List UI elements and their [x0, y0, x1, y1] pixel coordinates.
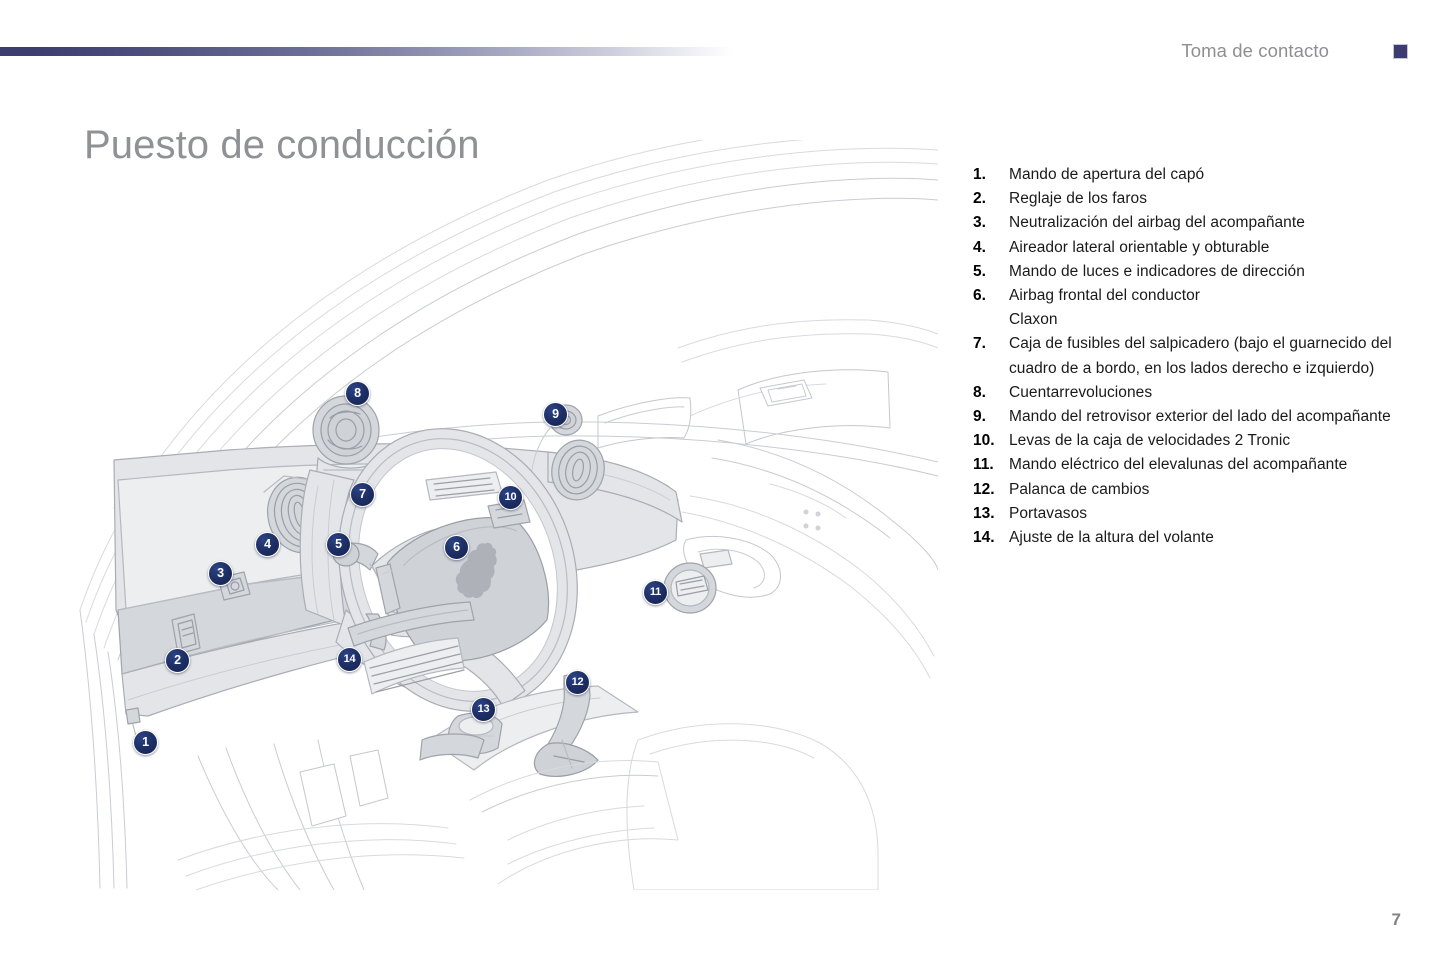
legend-number: 8.: [973, 381, 1009, 405]
callout-1-hood-release[interactable]: 1: [133, 730, 158, 755]
legend-item-9: 9. Mando del retrovisor exterior del lad…: [973, 405, 1403, 429]
legend-number: 5.: [973, 260, 1009, 284]
legend-number: 6.: [973, 284, 1009, 308]
callout-14-wheel-height[interactable]: 14: [337, 647, 362, 672]
callout-8-tachometer[interactable]: 8: [345, 381, 370, 406]
legend-number: 10.: [973, 429, 1009, 453]
legend-number: 9.: [973, 405, 1009, 429]
legend-label: Portavasos: [1009, 502, 1403, 526]
legend-item-7: 7. Caja de fusibles del salpicadero (baj…: [973, 332, 1403, 380]
callout-3-passenger-airbag[interactable]: 3: [208, 561, 233, 586]
legend-item-6: 6. Airbag frontal del conductor Claxon: [973, 284, 1403, 332]
legend-label: Palanca de cambios: [1009, 478, 1403, 502]
legend-number: 7.: [973, 332, 1009, 356]
callout-11-window-switch[interactable]: 11: [643, 580, 668, 605]
legend-number: 13.: [973, 502, 1009, 526]
legend-label: Levas de la caja de velocidades 2 Tronic: [1009, 429, 1403, 453]
legend-label: Mando de apertura del capó: [1009, 163, 1403, 187]
legend-item-13: 13. Portavasos: [973, 502, 1403, 526]
legend-number: 11.: [973, 453, 1009, 477]
callout-13-cup-holder[interactable]: 13: [471, 697, 496, 722]
manual-page: Toma de contacto Puesto de conducción .l…: [0, 0, 1445, 964]
legend-item-5: 5. Mando de luces e indicadores de direc…: [973, 260, 1403, 284]
legend-number: 14.: [973, 526, 1009, 550]
legend-item-4: 4. Aireador lateral orientable y obturab…: [973, 236, 1403, 260]
legend-item-12: 12. Palanca de cambios: [973, 478, 1403, 502]
legend-number: 1.: [973, 163, 1009, 187]
legend-list: 1. Mando de apertura del capó 2. Reglaje…: [933, 163, 1403, 550]
legend-label: Ajuste de la altura del volante: [1009, 526, 1403, 550]
legend-item-1: 1. Mando de apertura del capó: [973, 163, 1403, 187]
legend-label-sub: Claxon: [1009, 308, 1403, 332]
legend-number: 2.: [973, 187, 1009, 211]
legend-label: Mando de luces e indicadores de direcció…: [1009, 260, 1403, 284]
cockpit-illustration: .ln { fill:none; stroke:#b9bcc2; stroke-…: [78, 140, 938, 890]
legend-item-10: 10. Levas de la caja de velocidades 2 Tr…: [973, 429, 1403, 453]
legend-label-main: Airbag frontal del conductor: [1009, 287, 1200, 304]
legend-label: Mando eléctrico del elevalunas del acomp…: [1009, 453, 1403, 477]
legend-label: Mando del retrovisor exterior del lado d…: [1009, 405, 1403, 429]
legend-label: Caja de fusibles del salpicadero (bajo e…: [1009, 332, 1403, 380]
legend-number: 3.: [973, 211, 1009, 235]
chapter-title: Toma de contacto: [1181, 40, 1329, 62]
legend-number: 12.: [973, 478, 1009, 502]
callout-2-headlight-adjust[interactable]: 2: [165, 648, 190, 673]
callout-7-fuse-box[interactable]: 7: [350, 482, 375, 507]
legend-label: Neutralización del airbag del acompañant…: [1009, 211, 1403, 235]
legend-label: Reglaje de los faros: [1009, 187, 1403, 211]
legend-item-2: 2. Reglaje de los faros: [973, 187, 1403, 211]
callout-10-paddle-shifters[interactable]: 10: [498, 485, 523, 510]
legend-label: Cuentarrevoluciones: [1009, 381, 1403, 405]
legend-number: 4.: [973, 236, 1009, 260]
legend-label: Aireador lateral orientable y obturable: [1009, 236, 1403, 260]
page-number: 7: [1392, 910, 1401, 930]
callout-5-lights-stalk[interactable]: 5: [326, 532, 351, 557]
square-marker-icon: [1393, 44, 1408, 59]
callout-12-gear-lever[interactable]: 12: [565, 670, 590, 695]
legend-item-3: 3. Neutralización del airbag del acompañ…: [973, 211, 1403, 235]
legend-item-14: 14. Ajuste de la altura del volante: [973, 526, 1403, 550]
legend-label: Airbag frontal del conductor Claxon: [1009, 284, 1403, 332]
header-gradient-rule: [0, 47, 733, 56]
callout-9-mirror-control[interactable]: 9: [543, 402, 568, 427]
legend-item-11: 11. Mando eléctrico del elevalunas del a…: [973, 453, 1403, 477]
callout-6-driver-airbag[interactable]: 6: [444, 535, 469, 560]
callout-4-side-vent[interactable]: 4: [255, 532, 280, 557]
legend-item-8: 8. Cuentarrevoluciones: [973, 381, 1403, 405]
